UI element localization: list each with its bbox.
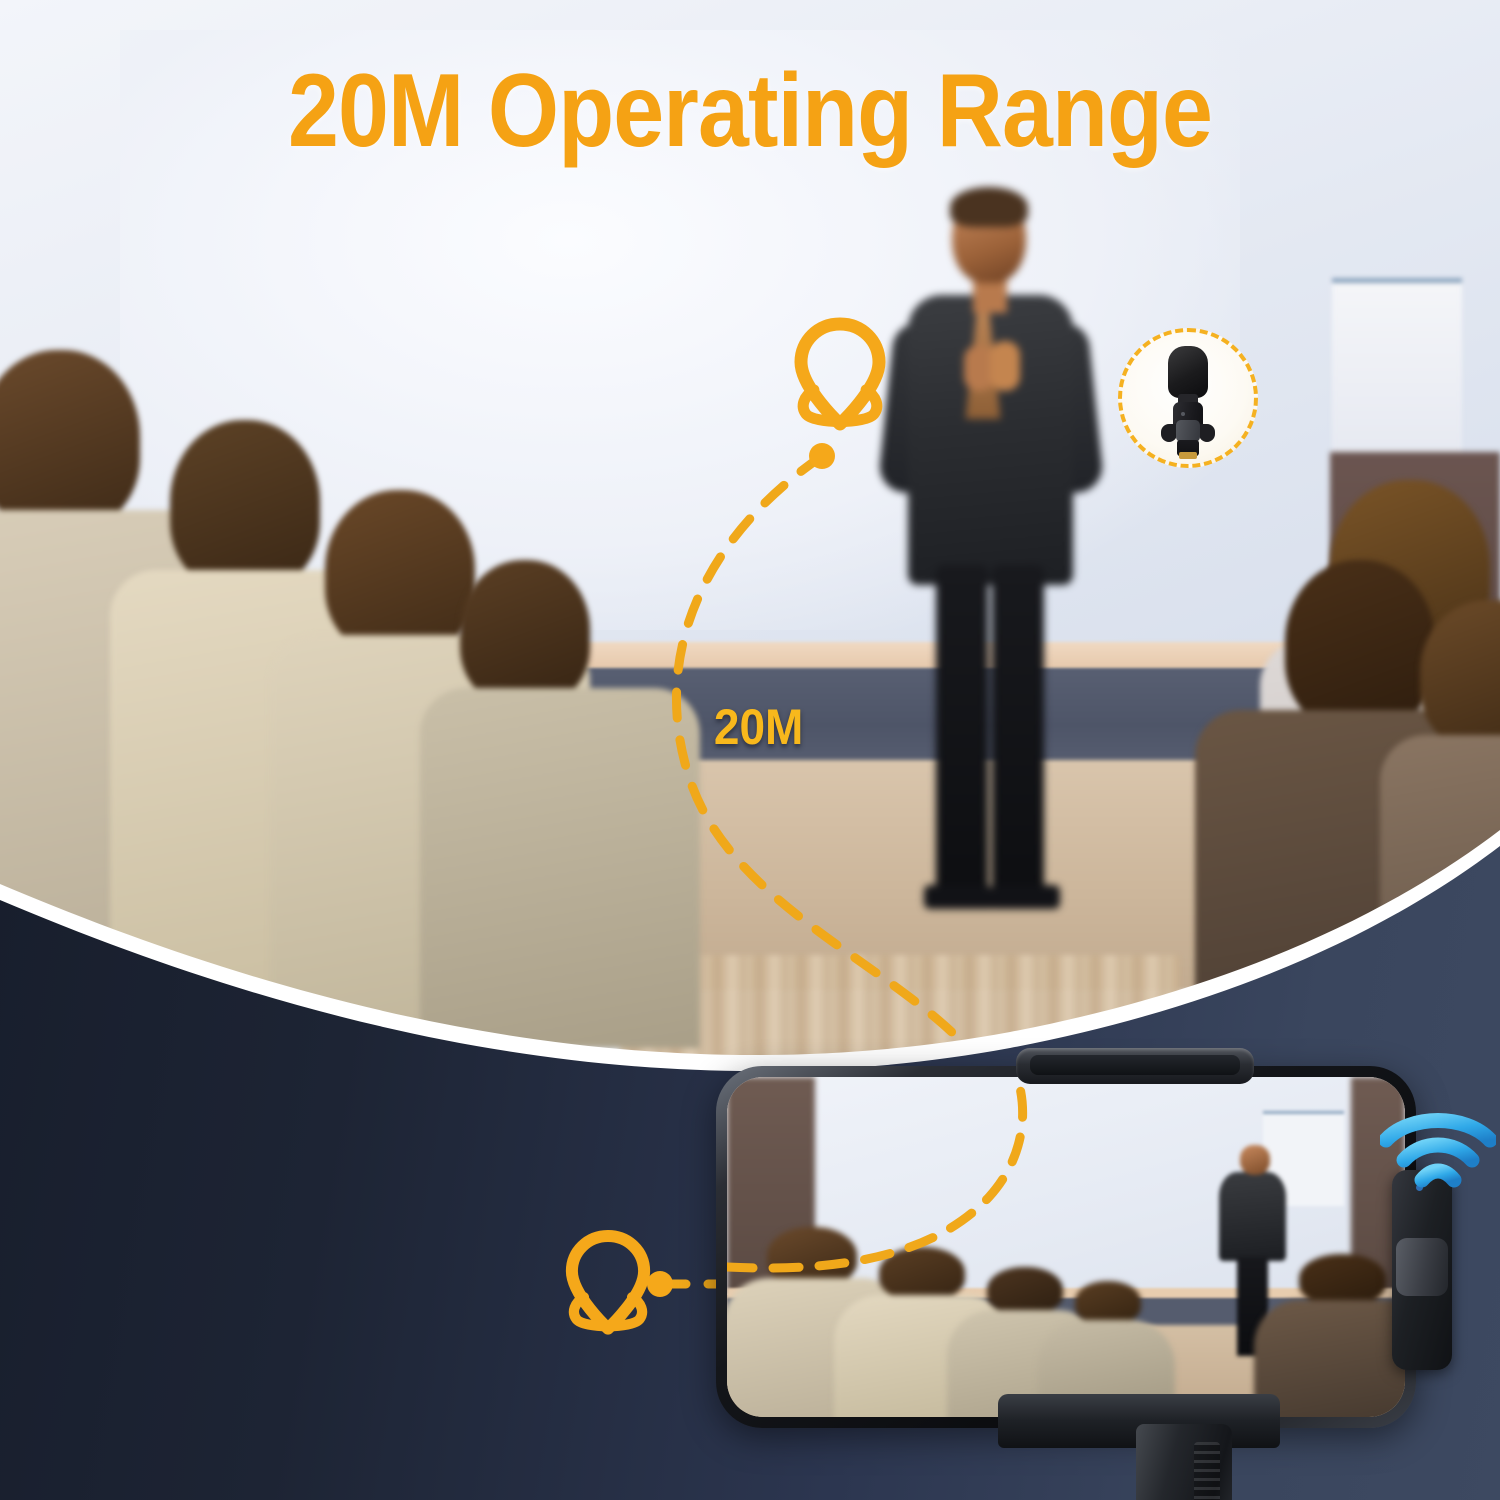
page-title: 20M Operating Range — [90, 52, 1410, 171]
phone-with-mount — [716, 1048, 1436, 1448]
preview-connector-dashes — [727, 1077, 1405, 1417]
product-marketing-image: 20M Operating Range 20M — [0, 0, 1500, 1500]
wall-whiteboard — [1332, 278, 1462, 458]
smartphone — [716, 1066, 1416, 1428]
microphone-callout — [1118, 328, 1258, 468]
audience-member — [430, 560, 680, 1020]
distance-label: 20M — [714, 698, 803, 756]
phone-screen-preview — [727, 1077, 1405, 1417]
presenter-figure — [880, 195, 1100, 935]
location-pin-icon — [558, 1228, 658, 1344]
location-pin-icon — [786, 316, 894, 440]
wifi-signal-icon — [1380, 1108, 1496, 1204]
lavalier-microphone-icon — [1160, 346, 1216, 458]
mount-handle — [1136, 1424, 1232, 1500]
mount-clamp-top — [1016, 1048, 1254, 1084]
